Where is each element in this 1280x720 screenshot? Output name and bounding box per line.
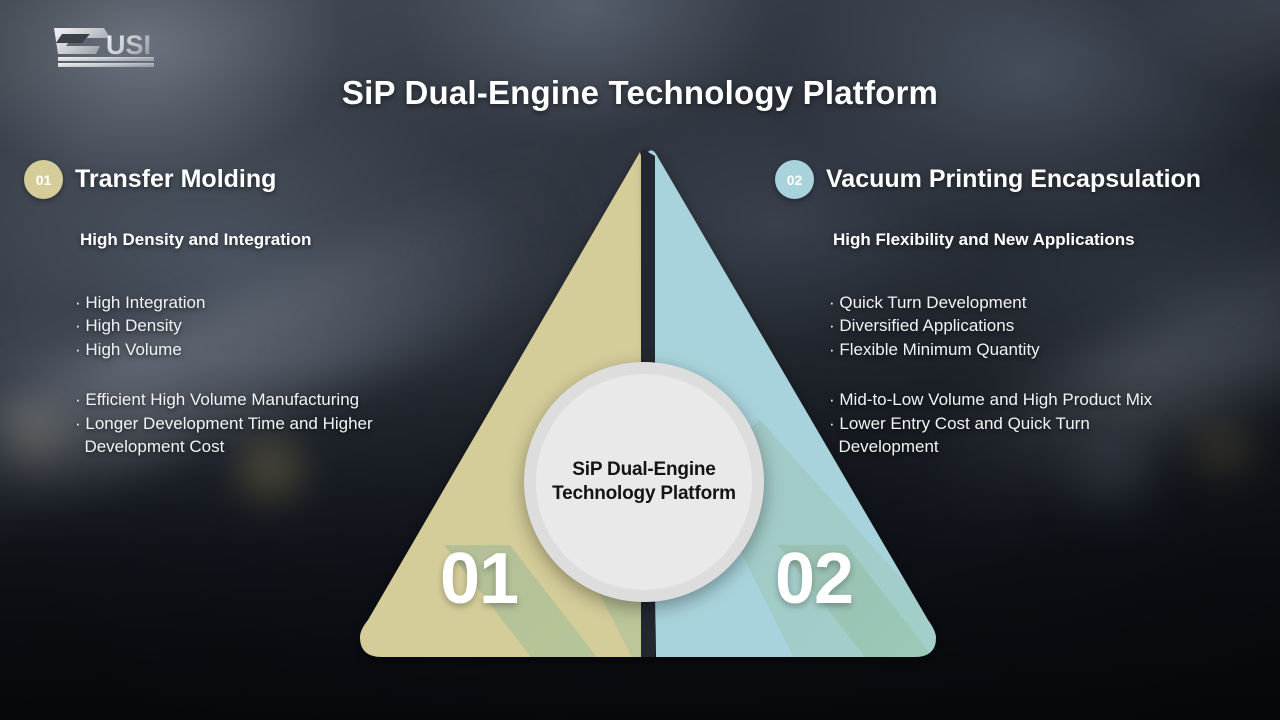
column-left-subheading: High Density and Integration <box>80 230 454 250</box>
list-item: · High Density <box>75 314 454 337</box>
column-right-bullets-group1: · Quick Turn Development · Diversified A… <box>829 291 1275 361</box>
list-item: · Mid-to-Low Volume and High Product Mix <box>829 388 1275 411</box>
column-vacuum-printing-encapsulation: 02 Vacuum Printing Encapsulation High Fl… <box>775 160 1275 459</box>
center-circle-line1: SiP Dual-Engine <box>552 458 736 482</box>
center-circle-label: SiP Dual-Engine Technology Platform <box>552 458 736 507</box>
slide-canvas: USI SiP Dual-Engine Technology Platform <box>0 0 1280 720</box>
column-left-header: 01 Transfer Molding <box>24 160 454 199</box>
center-circle-line2: Technology Platform <box>552 482 736 506</box>
list-item: · High Integration <box>75 291 454 314</box>
center-circle-inner: SiP Dual-Engine Technology Platform <box>536 374 752 590</box>
list-item: · Quick Turn Development <box>829 291 1275 314</box>
list-item: · Flexible Minimum Quantity <box>829 338 1275 361</box>
column-right-bullets-group2: · Mid-to-Low Volume and High Product Mix… <box>829 388 1275 458</box>
list-item: · Lower Entry Cost and Quick Turn Develo… <box>829 412 1275 459</box>
column-left-bullets-group2: · Efficient High Volume Manufacturing · … <box>75 388 454 458</box>
column-right-heading: Vacuum Printing Encapsulation <box>826 165 1201 194</box>
badge-01: 01 <box>24 160 63 199</box>
center-circle: SiP Dual-Engine Technology Platform <box>524 362 764 602</box>
triangle-number-02: 02 <box>775 538 853 620</box>
list-item: · Longer Development Time and Higher Dev… <box>75 412 454 459</box>
column-transfer-molding: 01 Transfer Molding High Density and Int… <box>24 160 454 459</box>
list-item: · Diversified Applications <box>829 314 1275 337</box>
column-right-subheading: High Flexibility and New Applications <box>833 230 1275 250</box>
list-item: · High Volume <box>75 338 454 361</box>
list-item: · Efficient High Volume Manufacturing <box>75 388 454 411</box>
column-right-header: 02 Vacuum Printing Encapsulation <box>775 160 1275 199</box>
triangle-number-01: 01 <box>440 538 518 620</box>
badge-02: 02 <box>775 160 814 199</box>
column-left-heading: Transfer Molding <box>75 165 276 194</box>
column-left-bullets-group1: · High Integration · High Density · High… <box>75 291 454 361</box>
